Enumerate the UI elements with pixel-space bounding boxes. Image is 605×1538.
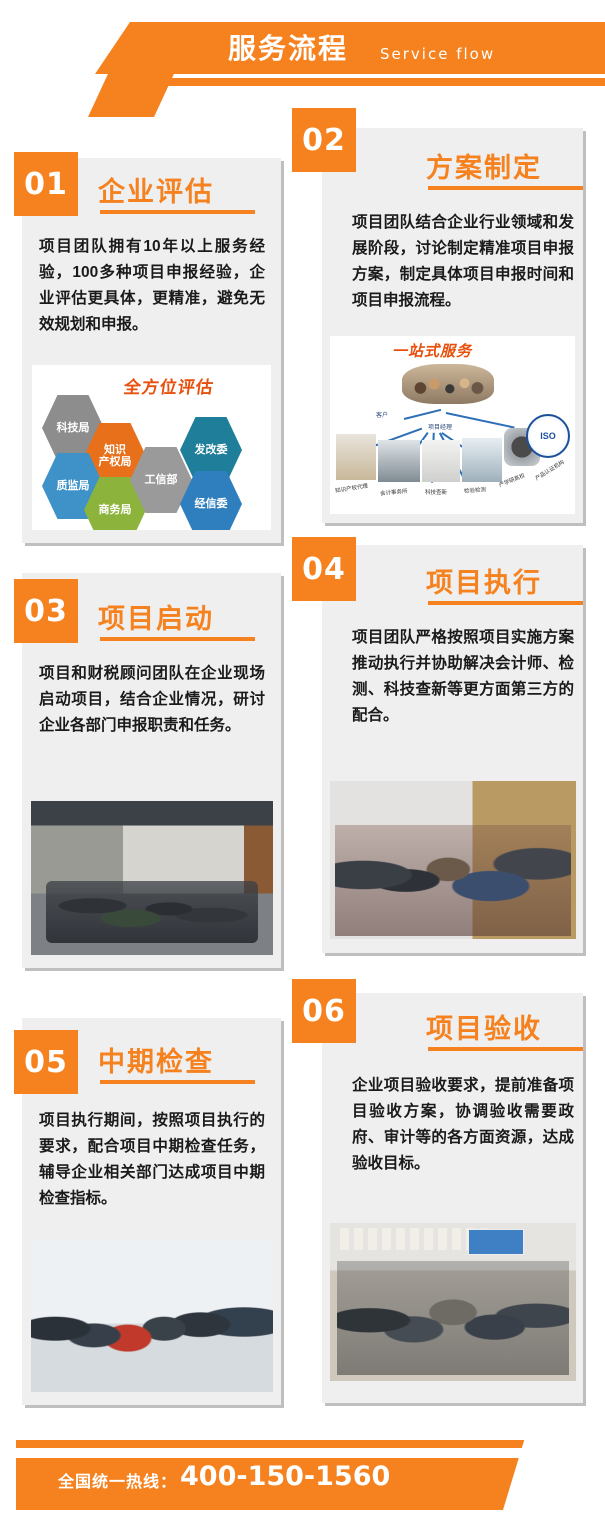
oss-arrow xyxy=(446,412,515,428)
card-body-04: 项目团队严格按照项目实施方案推动执行并协助解决会计师、检测、科技查新等更方面第三… xyxy=(352,625,574,729)
step-card-04: 项目执行 项目团队严格按照项目实施方案推动执行并协助解决会计师、检测、科技查新等… xyxy=(322,545,583,953)
step-card-03: 项目启动 项目和财税顾问团队在企业现场启动项目，结合企业情况，研讨企业各部门申报… xyxy=(22,573,281,968)
step-badge-05: 05 xyxy=(14,1030,78,1094)
card-body-06: 企业项目验收要求，提前准备项目验收方案，协调验收需要政府、审计等的各方面资源，达… xyxy=(352,1073,574,1177)
oss-label-project-manager: 项目经理 xyxy=(428,422,452,431)
page-title: 服务流程 xyxy=(228,30,348,68)
card-title-underline-02 xyxy=(428,186,583,190)
hexagon-node-label: 科技局 xyxy=(57,422,90,434)
hexagon-node-label: 工信部 xyxy=(145,474,178,486)
card-title-underline-05 xyxy=(100,1080,255,1084)
header-accent-line xyxy=(0,78,605,86)
hexagon-node-label: 商务局 xyxy=(99,504,132,516)
one-stop-service-diagram: 一站式服务 客户 项目经理 ISO 知识产权代理 会计事务所 科技查新 检验检测… xyxy=(330,336,575,514)
card-title-04: 项目执行 xyxy=(426,561,542,600)
hexagon-chart-01: 全方位评估 科技局 知识 产权局 质监局 商务局 工信部 发改委 经信委 xyxy=(32,365,271,530)
oss-title: 一站式服务 xyxy=(392,340,472,361)
hexagon-chart-title: 全方位评估 xyxy=(122,373,216,398)
oss-thumb-testing xyxy=(462,438,502,482)
hexagon-node-label: 经信委 xyxy=(195,498,228,510)
step-badge-03: 03 xyxy=(14,579,78,643)
oss-thumb-ip xyxy=(336,434,376,480)
oss-arrow xyxy=(404,409,441,420)
step-badge-02: 02 xyxy=(292,108,356,172)
card-photo-04 xyxy=(330,781,576,939)
card-photo-03 xyxy=(31,801,273,955)
wall-certificates xyxy=(340,1228,488,1250)
card-title-05: 中期检查 xyxy=(98,1040,214,1079)
card-body-01: 项目团队拥有10年以上服务经验，100多种项目申报经验，企业评估更具体，更精准，… xyxy=(39,234,265,338)
step-card-02: 方案制定 项目团队结合企业行业领域和发展阶段，讨论制定精准项目申报方案，制定具体… xyxy=(322,128,583,523)
oss-certification-seal: ISO xyxy=(526,414,570,458)
card-title-01: 企业评估 xyxy=(98,170,214,209)
card-title-underline-01 xyxy=(100,210,255,214)
card-body-02: 项目团队结合企业行业领域和发展阶段，讨论制定精准项目申报方案，制定具体项目申报时… xyxy=(352,210,574,314)
card-title-underline-03 xyxy=(100,637,255,641)
step-badge-01: 01 xyxy=(14,152,78,216)
page-subtitle: Service flow xyxy=(380,40,495,68)
infographic-page: 服务流程 Service flow 企业评估 项目团队拥有10年以上服务经验，1… xyxy=(0,0,605,1538)
footer-accent-line xyxy=(16,1440,605,1448)
oss-thumb-search xyxy=(422,440,460,482)
oss-thumb-accounting xyxy=(378,440,420,482)
card-title-underline-06 xyxy=(428,1047,583,1051)
oss-service-label: 知识产权代理 xyxy=(335,481,369,494)
card-title-03: 项目启动 xyxy=(98,597,214,636)
hotline-label: 全国统一热线： xyxy=(58,1468,177,1492)
hexagon-node-label: 发改委 xyxy=(195,444,228,456)
oss-meeting-photo xyxy=(402,364,494,404)
step-badge-06: 06 xyxy=(292,979,356,1043)
card-title-02: 方案制定 xyxy=(426,146,542,185)
hotline-number[interactable]: 400-150-1560 xyxy=(180,1461,390,1492)
presentation-screen xyxy=(468,1229,524,1255)
page-header: 服务流程 Service flow xyxy=(0,0,605,112)
hexagon-node-label: 知识 产权局 xyxy=(99,444,132,468)
card-body-05: 项目执行期间，按照项目执行的要求，配合项目中期检查任务，辅导企业相关部门达成项目… xyxy=(39,1108,265,1212)
hexagon-node-label: 质监局 xyxy=(57,480,90,492)
card-body-03: 项目和财税顾问团队在企业现场启动项目，结合企业情况，研讨企业各部门申报职责和任务… xyxy=(39,661,265,739)
card-title-underline-04 xyxy=(428,601,583,605)
oss-service-label: 会计事务所 xyxy=(380,487,408,497)
card-photo-05 xyxy=(31,1240,273,1392)
oss-service-label: 检验检测 xyxy=(464,485,487,495)
step-card-05: 中期检查 项目执行期间，按照项目执行的要求，配合项目中期检查任务，辅导企业相关部… xyxy=(22,1018,281,1405)
step-card-01: 企业评估 项目团队拥有10年以上服务经验，100多种项目申报经验，企业评估更具体… xyxy=(22,158,281,543)
step-card-06: 项目验收 企业项目验收要求，提前准备项目验收方案，协调验收需要政府、审计等的各方… xyxy=(322,993,583,1403)
card-photo-06 xyxy=(330,1223,576,1381)
oss-service-label: 科技查新 xyxy=(425,488,447,496)
card-title-06: 项目验收 xyxy=(426,1007,542,1046)
step-badge-04: 04 xyxy=(292,537,356,601)
oss-label-customer: 客户 xyxy=(376,410,388,419)
